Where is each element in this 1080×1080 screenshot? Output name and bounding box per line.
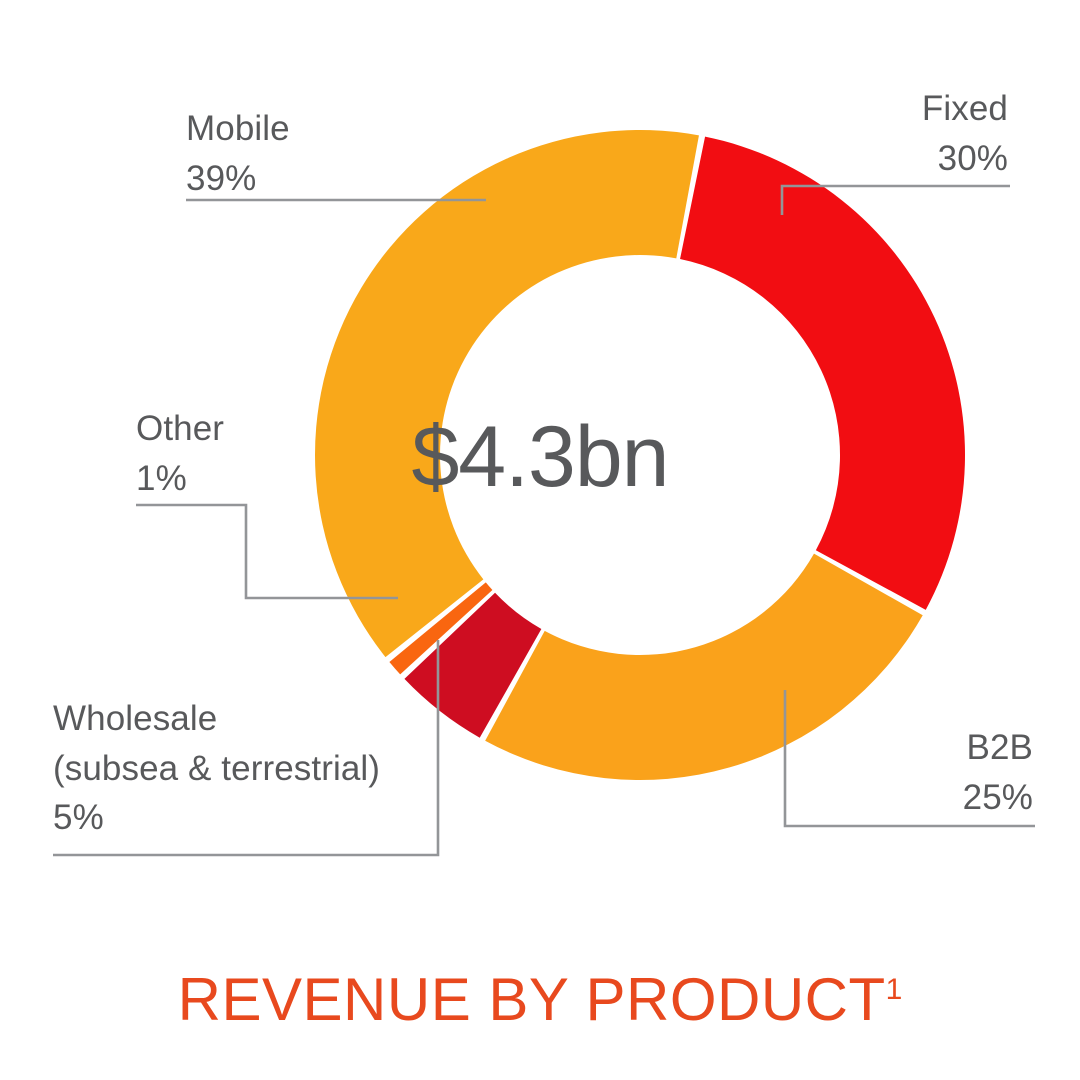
callout-label-b2b: B2B 25% bbox=[963, 723, 1033, 822]
slice-fixed[interactable] bbox=[680, 137, 965, 610]
chart-title-text: REVENUE BY PRODUCT bbox=[178, 966, 886, 1033]
callout-label-fixed-name: Fixed bbox=[922, 84, 1008, 134]
callout-label-mobile: Mobile 39% bbox=[186, 104, 290, 203]
chart-title-footnote-marker: 1 bbox=[886, 973, 903, 1006]
chart-title: REVENUE BY PRODUCT1 bbox=[0, 965, 1080, 1034]
slice-b2b[interactable] bbox=[485, 554, 923, 780]
slice-mobile[interactable] bbox=[315, 130, 699, 657]
callout-label-b2b-name: B2B bbox=[963, 723, 1033, 773]
donut-chart-svg bbox=[0, 0, 1080, 1080]
callout-label-mobile-percent: 39% bbox=[186, 154, 290, 204]
callout-label-mobile-name: Mobile bbox=[186, 104, 290, 154]
callout-label-b2b-percent: 25% bbox=[963, 773, 1033, 823]
callout-label-wholesale-name-line2: (subsea & terrestrial) bbox=[53, 744, 380, 794]
callout-label-wholesale-name: Wholesale bbox=[53, 694, 380, 744]
revenue-by-product-chart: Mobile 39% Fixed 30% Other 1% Wholesale … bbox=[0, 0, 1080, 1080]
callout-label-fixed-percent: 30% bbox=[922, 134, 1008, 184]
callout-label-wholesale-percent: 5% bbox=[53, 793, 380, 843]
callout-label-wholesale: Wholesale (subsea & terrestrial) 5% bbox=[53, 694, 380, 843]
callout-label-fixed: Fixed 30% bbox=[922, 84, 1008, 183]
donut-center-value: $4.3bn bbox=[0, 408, 1080, 507]
